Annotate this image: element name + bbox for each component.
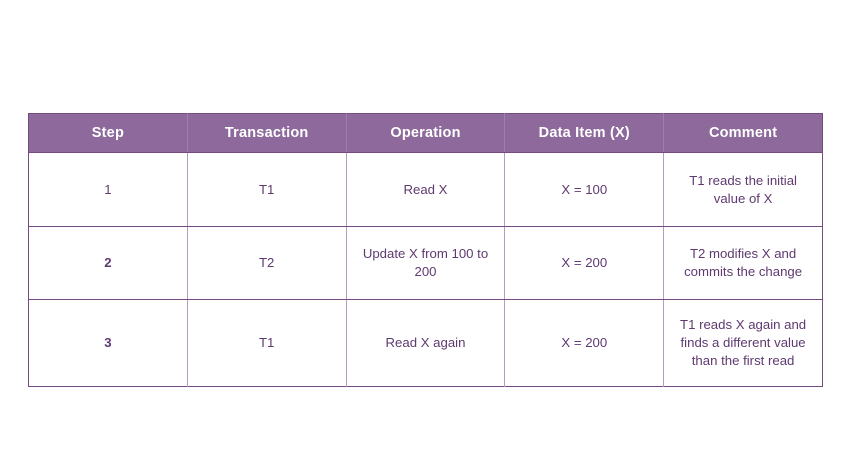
cell-transaction: T1	[187, 300, 346, 387]
cell-step: 1	[29, 153, 188, 227]
column-header-data-item: Data Item (X)	[505, 114, 664, 153]
cell-comment: T2 modifies X and commits the change	[664, 227, 823, 300]
cell-comment: T1 reads X again and finds a different v…	[664, 300, 823, 387]
cell-transaction: T2	[187, 227, 346, 300]
cell-data-item: X = 100	[505, 153, 664, 227]
page-canvas: Step Transaction Operation Data Item (X)…	[0, 0, 850, 450]
column-header-operation: Operation	[346, 114, 505, 153]
cell-data-item: X = 200	[505, 300, 664, 387]
cell-transaction: T1	[187, 153, 346, 227]
cell-comment: T1 reads the initial value of X	[664, 153, 823, 227]
table-row: 3 T1 Read X again X = 200 T1 reads X aga…	[29, 300, 823, 387]
column-header-comment: Comment	[664, 114, 823, 153]
cell-data-item: X = 200	[505, 227, 664, 300]
column-header-step: Step	[29, 114, 188, 153]
cell-operation: Read X again	[346, 300, 505, 387]
table-row: 1 T1 Read X X = 100 T1 reads the initial…	[29, 153, 823, 227]
transaction-schedule-table: Step Transaction Operation Data Item (X)…	[28, 113, 823, 387]
cell-step: 3	[29, 300, 188, 387]
cell-step: 2	[29, 227, 188, 300]
table-container: Step Transaction Operation Data Item (X)…	[28, 113, 822, 387]
cell-operation: Read X	[346, 153, 505, 227]
table-header-row: Step Transaction Operation Data Item (X)…	[29, 114, 823, 153]
table-body: 1 T1 Read X X = 100 T1 reads the initial…	[29, 153, 823, 387]
table-row: 2 T2 Update X from 100 to 200 X = 200 T2…	[29, 227, 823, 300]
column-header-transaction: Transaction	[187, 114, 346, 153]
cell-operation: Update X from 100 to 200	[346, 227, 505, 300]
table-header: Step Transaction Operation Data Item (X)…	[29, 114, 823, 153]
